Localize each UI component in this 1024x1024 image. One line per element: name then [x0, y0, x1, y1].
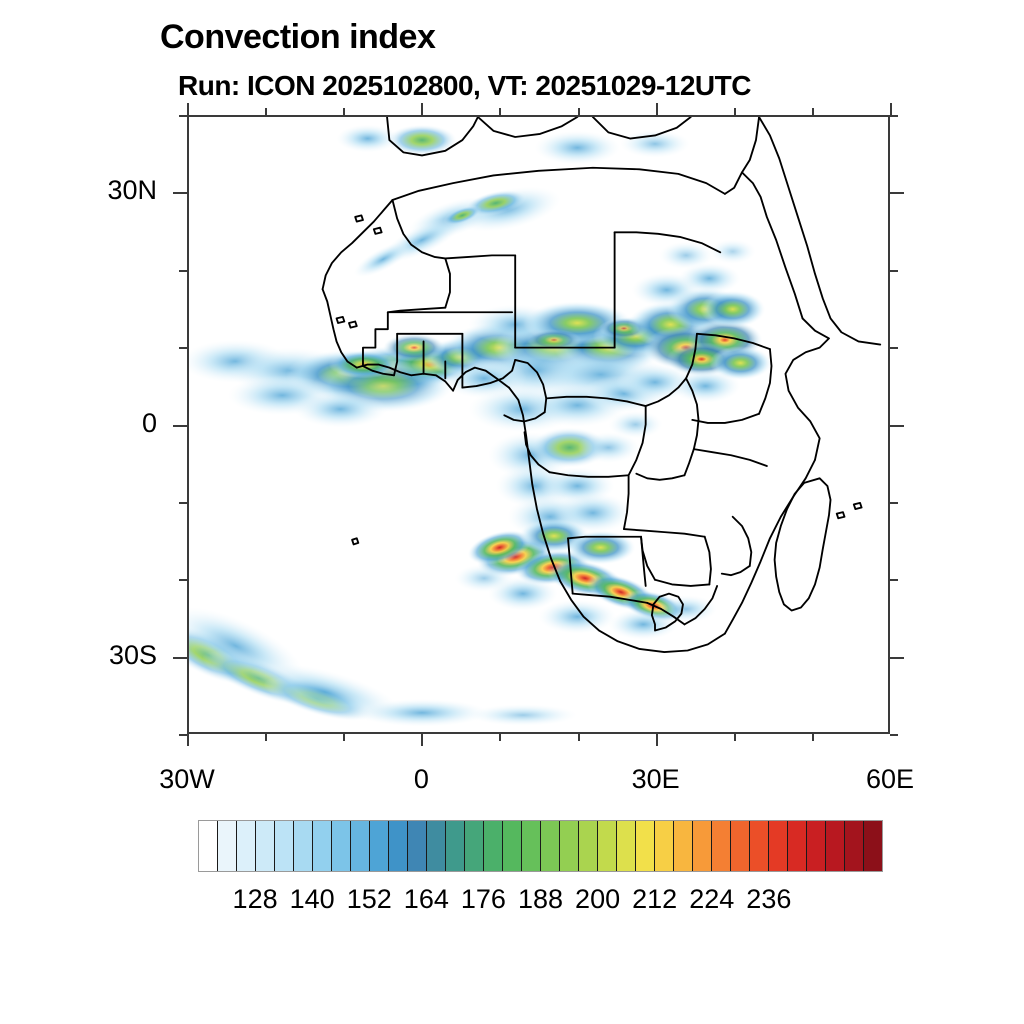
- colorbar-cell-15[interactable]: [484, 821, 503, 871]
- y-tick-right--40: [890, 734, 898, 736]
- y-tick-right--30: [890, 657, 904, 659]
- x-tick-top-30: [656, 103, 658, 115]
- colorbar-cell-4[interactable]: [275, 821, 294, 871]
- y-tick-right--10: [890, 502, 898, 504]
- x-tick--30: [187, 734, 189, 746]
- y-tick-right--20: [890, 579, 898, 581]
- x-tick--20: [265, 734, 267, 741]
- colorbar-cell-2[interactable]: [237, 821, 256, 871]
- colorbar-cell-6[interactable]: [313, 821, 332, 871]
- colorbar-cell-11[interactable]: [408, 821, 427, 871]
- colorbar-cell-23[interactable]: [636, 821, 655, 871]
- y-tick--20: [179, 579, 187, 581]
- y-tick--10: [179, 502, 187, 504]
- page-title: Convection index: [160, 18, 435, 57]
- colorbar-cell-1[interactable]: [218, 821, 237, 871]
- x-tick-top--30: [187, 103, 189, 115]
- colorbar-cell-33[interactable]: [826, 821, 845, 871]
- x-tick-top-50: [812, 108, 814, 115]
- y-tick-right-40: [890, 115, 898, 117]
- y-tick--40: [179, 734, 187, 736]
- x-axis-label-30E: 30E: [591, 764, 721, 795]
- colorbar-cell-27[interactable]: [712, 821, 731, 871]
- y-tick-20: [179, 270, 187, 272]
- colorbar-cell-3[interactable]: [256, 821, 275, 871]
- y-tick-right-20: [890, 270, 898, 272]
- x-tick-top-20: [578, 108, 580, 115]
- x-tick-top--20: [265, 108, 267, 115]
- x-axis-label-30W: 30W: [122, 764, 252, 795]
- y-tick-40: [179, 115, 187, 117]
- x-axis-label-60E: 60E: [825, 764, 955, 795]
- colorbar-cell-16[interactable]: [503, 821, 522, 871]
- y-axis-label-30S: 30S: [47, 640, 157, 671]
- colorbar-cell-0[interactable]: [199, 821, 218, 871]
- colorbar[interactable]: [198, 820, 883, 872]
- colorbar-label-236: 236: [719, 884, 819, 915]
- x-tick--10: [343, 734, 345, 741]
- colorbar-cell-13[interactable]: [446, 821, 465, 871]
- colorbar-cell-26[interactable]: [693, 821, 712, 871]
- y-axis-label-0: 0: [47, 408, 157, 439]
- x-tick-0: [421, 734, 423, 746]
- y-tick-right-30: [890, 192, 904, 194]
- chart-canvas: Convection index Run: ICON 2025102800, V…: [0, 0, 1024, 1024]
- colorbar-cell-24[interactable]: [655, 821, 674, 871]
- colorbar-cell-7[interactable]: [332, 821, 351, 871]
- y-tick--30: [173, 657, 187, 659]
- x-axis-label-0: 0: [356, 764, 486, 795]
- x-tick-40: [734, 734, 736, 741]
- colorbar-cell-19[interactable]: [560, 821, 579, 871]
- x-tick-top-40: [734, 108, 736, 115]
- colorbar-cell-35[interactable]: [864, 821, 882, 871]
- colorbar-cell-21[interactable]: [598, 821, 617, 871]
- colorbar-cell-14[interactable]: [465, 821, 484, 871]
- colorbar-cell-5[interactable]: [294, 821, 313, 871]
- colorbar-cell-9[interactable]: [370, 821, 389, 871]
- x-tick-top-10: [499, 108, 501, 115]
- x-tick-20: [578, 734, 580, 741]
- x-tick-top-60: [890, 103, 892, 115]
- colorbar-cell-29[interactable]: [750, 821, 769, 871]
- y-tick-0: [173, 425, 187, 427]
- africa-convection-map: [189, 117, 888, 732]
- colorbar-cell-20[interactable]: [579, 821, 598, 871]
- colorbar-cell-25[interactable]: [674, 821, 693, 871]
- colorbar-cell-10[interactable]: [389, 821, 408, 871]
- colorbar-cell-32[interactable]: [807, 821, 826, 871]
- colorbar-cell-12[interactable]: [427, 821, 446, 871]
- y-axis-label-30N: 30N: [47, 175, 157, 206]
- y-tick-right-10: [890, 347, 898, 349]
- colorbar-cell-31[interactable]: [788, 821, 807, 871]
- colorbar-cell-22[interactable]: [617, 821, 636, 871]
- map-plot-area: [187, 115, 890, 734]
- y-tick-right-0: [890, 425, 904, 427]
- map-clip: [189, 117, 888, 732]
- colorbar-cell-18[interactable]: [541, 821, 560, 871]
- x-tick-top--10: [343, 108, 345, 115]
- colorbar-cell-17[interactable]: [522, 821, 541, 871]
- x-tick-10: [499, 734, 501, 741]
- colorbar-cell-34[interactable]: [845, 821, 864, 871]
- colorbar-cell-30[interactable]: [769, 821, 788, 871]
- y-tick-30: [173, 192, 187, 194]
- colorbar-cell-28[interactable]: [731, 821, 750, 871]
- chart-subtitle: Run: ICON 2025102800, VT: 20251029-12UTC: [178, 70, 751, 102]
- colorbar-cell-8[interactable]: [351, 821, 370, 871]
- x-tick-top-0: [421, 103, 423, 115]
- x-tick-50: [812, 734, 814, 741]
- y-tick-10: [179, 347, 187, 349]
- x-tick-30: [656, 734, 658, 746]
